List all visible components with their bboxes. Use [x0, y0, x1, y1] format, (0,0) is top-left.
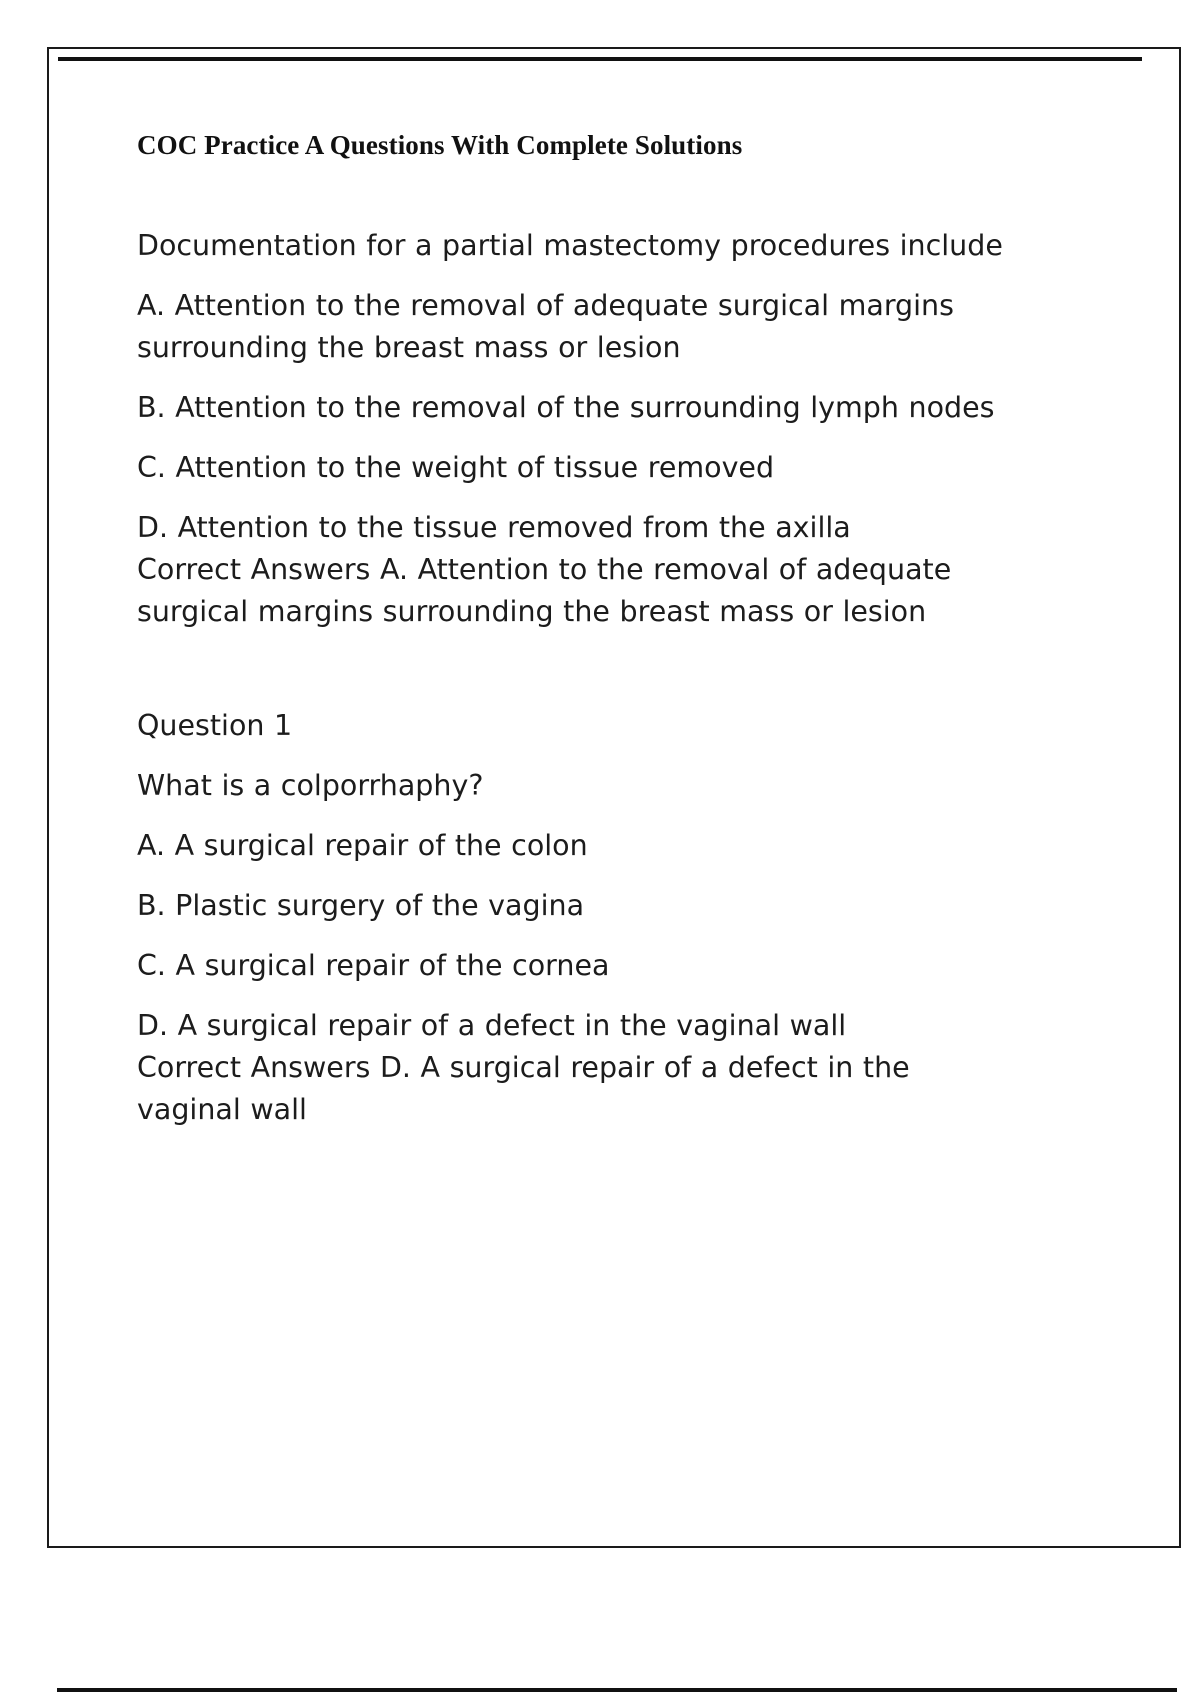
option-b-q1: B. Plastic surgery of the vagina — [137, 885, 1017, 927]
question-stem-1: What is a colporrhaphy? — [137, 765, 1017, 807]
option-a-intro: A. Attention to the removal of adequate … — [137, 285, 1017, 369]
question-stem-intro: Documentation for a partial mastectomy p… — [137, 225, 1017, 267]
page-title: COC Practice A Questions With Complete S… — [137, 129, 1057, 163]
title-spacer — [137, 163, 1057, 225]
correct-answer-q1: Correct Answers D. A surgical repair of … — [137, 1047, 1017, 1131]
next-page-top-rule — [57, 1688, 1177, 1692]
document-content: COC Practice A Questions With Complete S… — [137, 129, 1057, 1149]
option-c-q1: C. A surgical repair of the cornea — [137, 945, 1017, 987]
option-d-q1: D. A surgical repair of a defect in the … — [137, 1005, 1017, 1047]
page-top-rule — [58, 57, 1142, 61]
option-c-intro: C. Attention to the weight of tissue rem… — [137, 447, 1017, 489]
correct-answer-intro: Correct Answers A. Attention to the remo… — [137, 549, 1017, 633]
document-page: COC Practice A Questions With Complete S… — [47, 47, 1181, 1548]
section-spacer — [137, 651, 1057, 705]
option-d-intro: D. Attention to the tissue removed from … — [137, 507, 1017, 549]
option-b-intro: B. Attention to the removal of the surro… — [137, 387, 1017, 429]
option-a-q1: A. A surgical repair of the colon — [137, 825, 1017, 867]
question-number-1: Question 1 — [137, 705, 1017, 747]
